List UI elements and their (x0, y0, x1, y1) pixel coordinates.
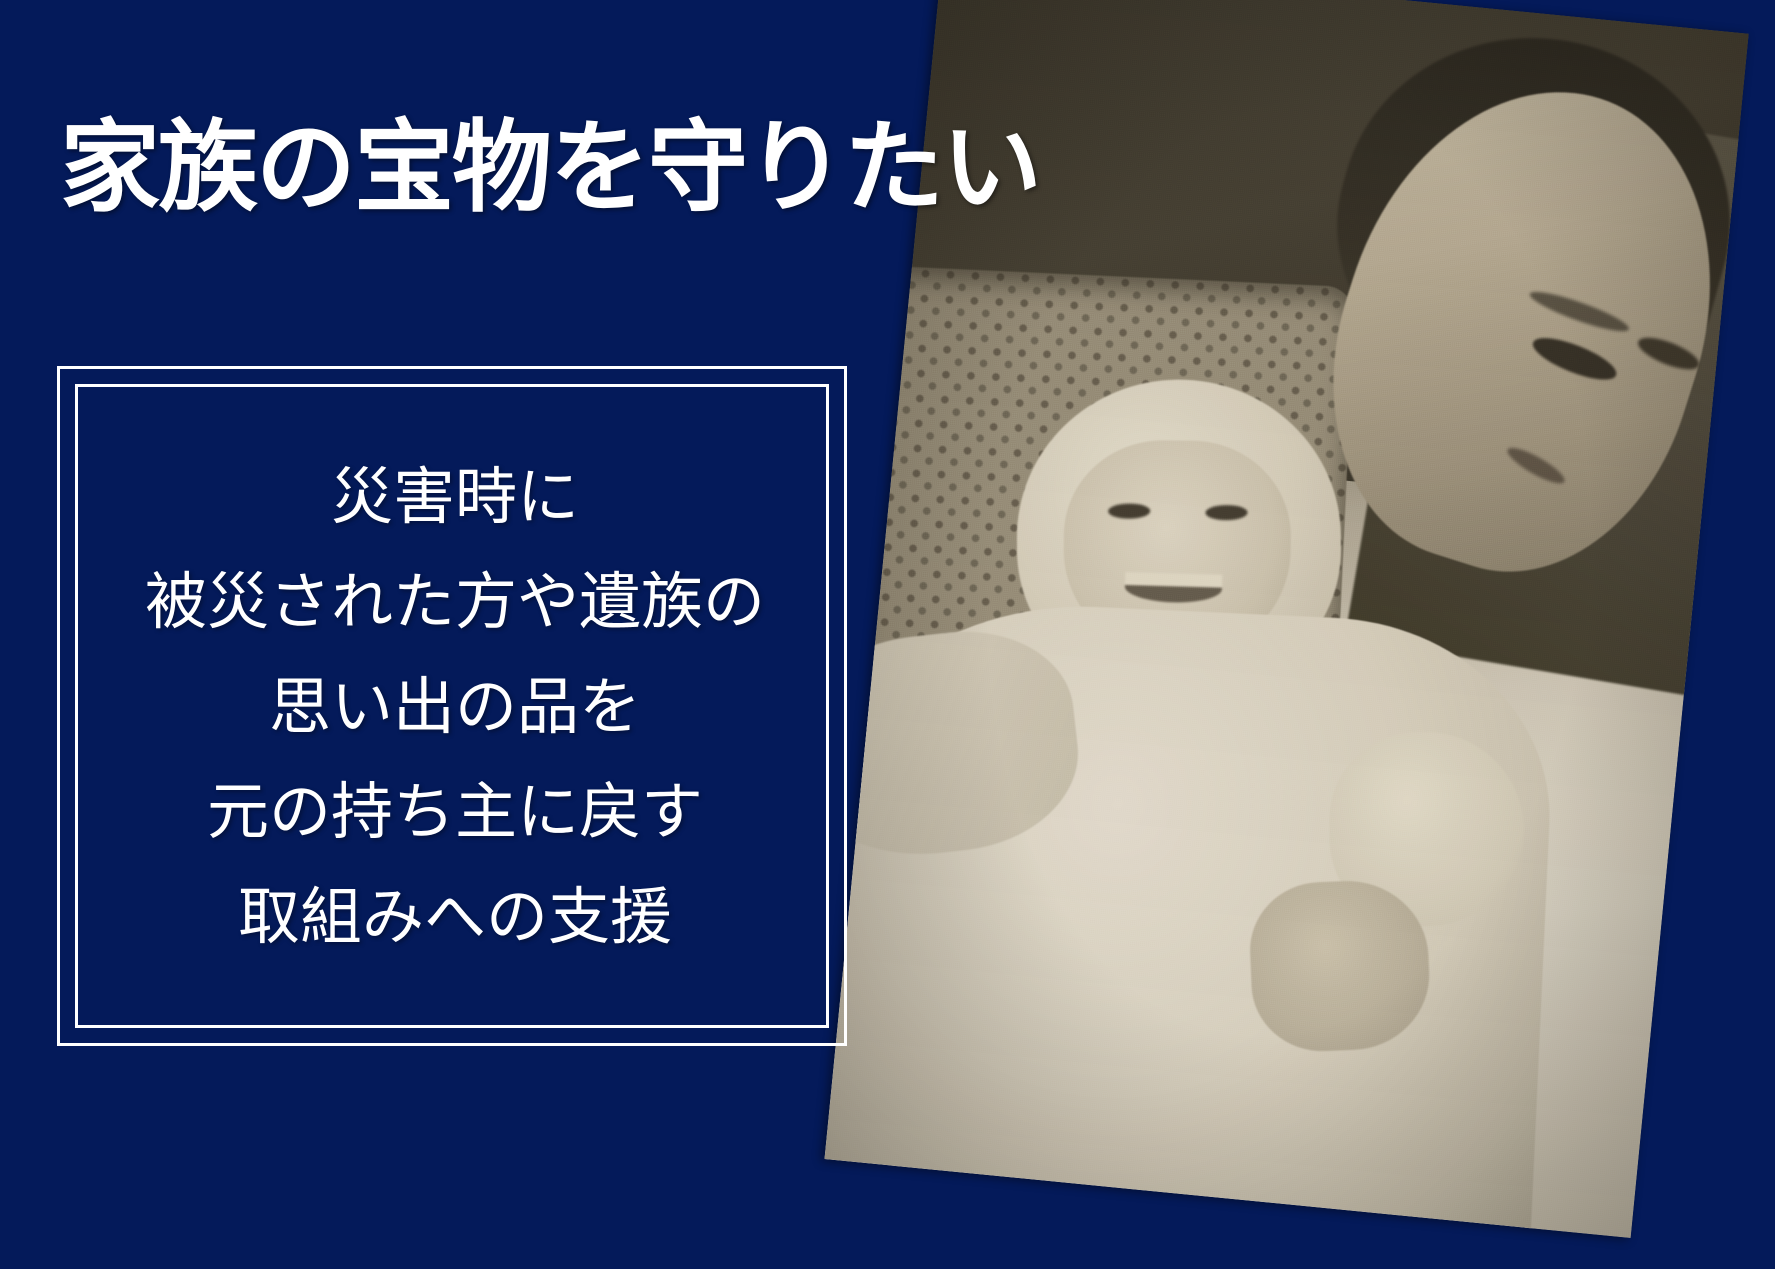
photo-baby-eye-left (1108, 503, 1150, 518)
message-line: 災害時に (331, 445, 579, 550)
photo-baby-eye-right (1205, 505, 1247, 520)
message-text-block: 災害時に 被災された方や遺族の 思い出の品を 元の持ち主に戻す 取組みへの支援 (75, 392, 835, 1022)
message-line: 取組みへの支援 (238, 865, 672, 970)
poster-canvas: 家族の宝物を守りたい 災害時に 被災された方や遺族の 思い出の品を 元の持ち主に… (0, 0, 1775, 1269)
message-line: 思い出の品を (269, 655, 641, 760)
message-line: 被災された方や遺族の (145, 550, 765, 655)
poster-title: 家族の宝物を守りたい (60, 118, 1040, 218)
message-line: 元の持ち主に戻す (207, 760, 703, 865)
photo-boy-hand (1247, 878, 1432, 1055)
